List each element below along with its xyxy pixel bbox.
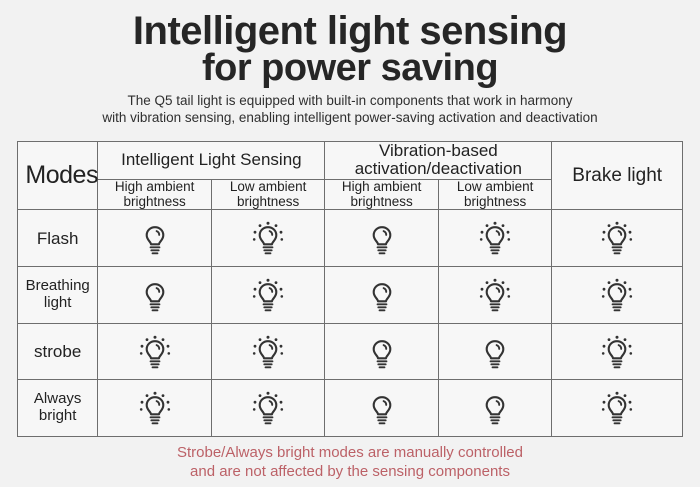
table-row: strobe bbox=[18, 323, 683, 380]
row-label-line-1: Always bbox=[18, 391, 97, 408]
header-group-vibration-line-2: activation/deactivation bbox=[325, 160, 551, 178]
cell-brake bbox=[552, 267, 683, 324]
cell-vib-low bbox=[438, 267, 552, 324]
modes-matrix-table: Modes Intelligent Light Sensing Vibratio… bbox=[17, 141, 683, 437]
row-label-mode: strobe bbox=[18, 323, 98, 380]
row-label-line-2: light bbox=[18, 295, 97, 312]
page-title-line-1: Intelligent light sensing bbox=[0, 12, 700, 50]
page-title-line-2: for power saving bbox=[0, 50, 700, 86]
cell-ils-low bbox=[211, 267, 325, 324]
header-sub-vib-low: Low ambient brightness bbox=[438, 179, 552, 210]
header-sub-ils-high: High ambient brightness bbox=[98, 179, 212, 210]
lightbulb-on-icon bbox=[478, 220, 512, 256]
header-brake-light-label: Brake light bbox=[572, 165, 662, 186]
header-sub-ils-low: Low ambient brightness bbox=[211, 179, 325, 210]
header-group-ils-label: Intelligent Light Sensing bbox=[121, 150, 302, 169]
row-label-mode: Alwaysbright bbox=[18, 380, 98, 437]
lightbulb-off-icon bbox=[478, 390, 512, 426]
cell-brake bbox=[552, 210, 683, 267]
table-row: Breathinglight bbox=[18, 267, 683, 324]
header-group-vibration-line-1: Vibration-based bbox=[325, 142, 551, 160]
page-subtitle-line-2: with vibration sensing, enabling intelli… bbox=[8, 110, 692, 126]
header-sub-vib-low-line-2: brightness bbox=[439, 195, 552, 210]
header-sub-ils-high-line-1: High ambient bbox=[98, 180, 211, 195]
header-sub-ils-high-line-2: brightness bbox=[98, 195, 211, 210]
cell-ils-high bbox=[98, 210, 212, 267]
lightbulb-on-icon bbox=[478, 277, 512, 313]
lightbulb-off-icon bbox=[365, 390, 399, 426]
header-group-intelligent-light-sensing: Intelligent Light Sensing bbox=[98, 142, 325, 180]
footer-note-line-2: and are not affected by the sensing comp… bbox=[0, 462, 700, 481]
cell-brake bbox=[552, 323, 683, 380]
lightbulb-off-icon bbox=[365, 220, 399, 256]
cell-ils-low bbox=[211, 323, 325, 380]
lightbulb-on-icon bbox=[138, 390, 172, 426]
header-sub-vib-high-line-1: High ambient bbox=[325, 180, 438, 195]
cell-vib-low bbox=[438, 380, 552, 437]
cell-ils-low bbox=[211, 380, 325, 437]
lightbulb-on-icon bbox=[138, 334, 172, 370]
header-modes-label: Modes bbox=[25, 161, 98, 189]
row-label-line-1: Flash bbox=[18, 229, 97, 248]
modes-matrix-container: Modes Intelligent Light Sensing Vibratio… bbox=[17, 141, 683, 437]
cell-vib-high bbox=[325, 380, 439, 437]
cell-vib-high bbox=[325, 267, 439, 324]
row-label-mode: Flash bbox=[18, 210, 98, 267]
lightbulb-on-icon bbox=[600, 334, 634, 370]
table-row: Alwaysbright bbox=[18, 380, 683, 437]
lightbulb-off-icon bbox=[365, 334, 399, 370]
lightbulb-off-icon bbox=[138, 277, 172, 313]
row-label-line-1: Breathing bbox=[18, 278, 97, 295]
footer-note: Strobe/Always bright modes are manually … bbox=[0, 443, 700, 481]
header-sub-vib-low-line-1: Low ambient bbox=[439, 180, 552, 195]
lightbulb-on-icon bbox=[251, 220, 285, 256]
page-title: Intelligent light sensing for power savi… bbox=[0, 0, 700, 86]
lightbulb-on-icon bbox=[251, 390, 285, 426]
footer-note-line-1: Strobe/Always bright modes are manually … bbox=[0, 443, 700, 462]
lightbulb-off-icon bbox=[138, 220, 172, 256]
cell-ils-low bbox=[211, 210, 325, 267]
cell-ils-high bbox=[98, 267, 212, 324]
table-header-group-row: Modes Intelligent Light Sensing Vibratio… bbox=[18, 142, 683, 180]
table-body: Flash bbox=[18, 210, 683, 437]
cell-brake bbox=[552, 380, 683, 437]
header-sub-ils-low-line-2: brightness bbox=[212, 195, 325, 210]
cell-vib-high bbox=[325, 323, 439, 380]
lightbulb-on-icon bbox=[600, 220, 634, 256]
header-group-vibration-based: Vibration-based activation/deactivation bbox=[325, 142, 552, 180]
infographic-page: Intelligent light sensing for power savi… bbox=[0, 0, 700, 487]
cell-vib-low bbox=[438, 323, 552, 380]
row-label-mode: Breathinglight bbox=[18, 267, 98, 324]
row-label-line-2: bright bbox=[18, 408, 97, 425]
header-sub-vib-high: High ambient brightness bbox=[325, 179, 439, 210]
cell-vib-low bbox=[438, 210, 552, 267]
row-label-line-1: strobe bbox=[18, 342, 97, 361]
cell-ils-high bbox=[98, 380, 212, 437]
table-head: Modes Intelligent Light Sensing Vibratio… bbox=[18, 142, 683, 210]
header-modes: Modes bbox=[18, 142, 98, 210]
header-sub-vib-high-line-2: brightness bbox=[325, 195, 438, 210]
cell-ils-high bbox=[98, 323, 212, 380]
lightbulb-on-icon bbox=[251, 334, 285, 370]
lightbulb-off-icon bbox=[365, 277, 399, 313]
header-sub-ils-low-line-1: Low ambient bbox=[212, 180, 325, 195]
lightbulb-off-icon bbox=[478, 334, 512, 370]
cell-vib-high bbox=[325, 210, 439, 267]
page-subtitle: The Q5 tail light is equipped with built… bbox=[0, 93, 700, 126]
lightbulb-on-icon bbox=[600, 277, 634, 313]
page-subtitle-line-1: The Q5 tail light is equipped with built… bbox=[8, 93, 692, 109]
table-row: Flash bbox=[18, 210, 683, 267]
lightbulb-on-icon bbox=[600, 390, 634, 426]
lightbulb-on-icon bbox=[251, 277, 285, 313]
header-brake-light: Brake light bbox=[552, 142, 683, 210]
